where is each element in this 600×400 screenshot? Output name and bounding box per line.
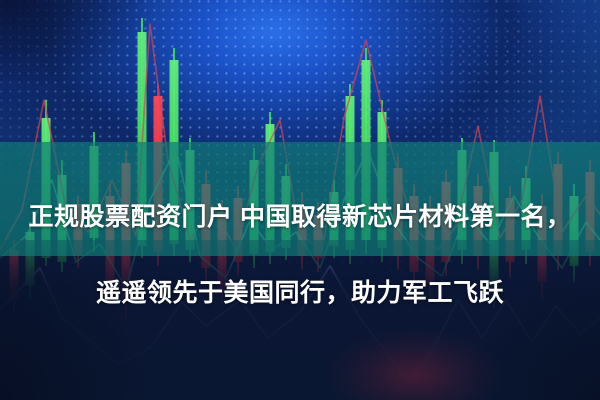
headline-line-2: 遥遥领先于美国同行，助力军工飞跃: [8, 274, 592, 312]
headline-line-1: 正规股票配资门户 中国取得新芯片材料第一名，: [8, 198, 592, 236]
headline-text: 正规股票配资门户 中国取得新芯片材料第一名， 遥遥领先于美国同行，助力军工飞跃: [0, 160, 600, 350]
stock-banner-image: 正规股票配资门户 中国取得新芯片材料第一名， 遥遥领先于美国同行，助力军工飞跃: [0, 0, 600, 400]
